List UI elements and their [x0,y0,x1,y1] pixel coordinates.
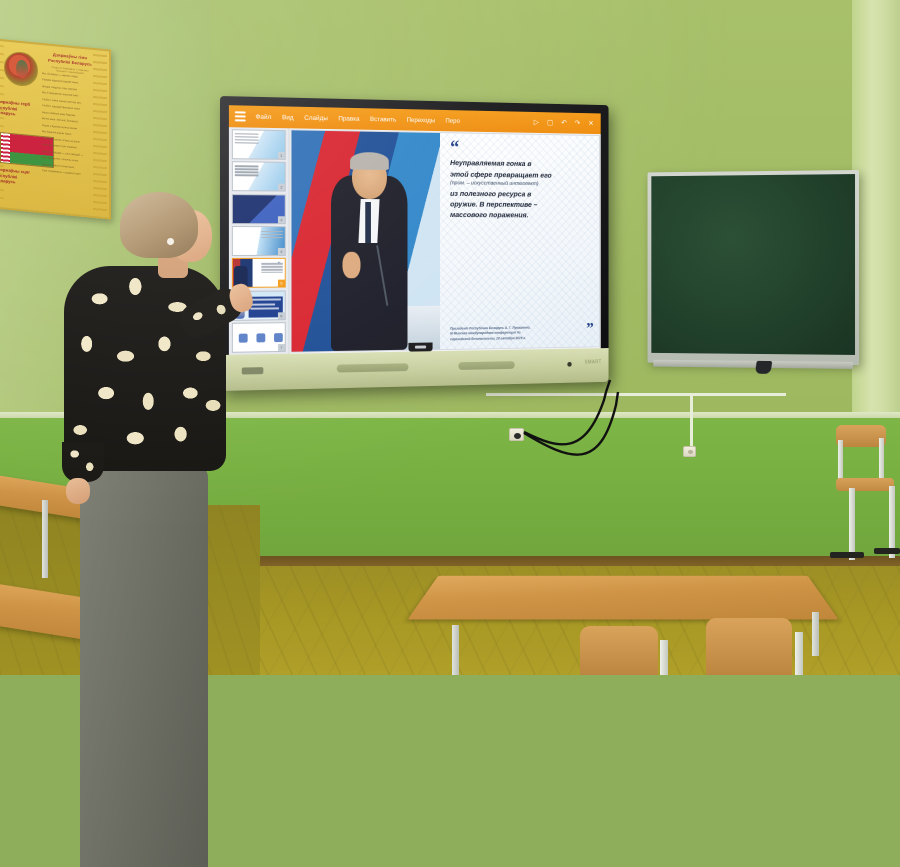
interactive-display[interactable]: ФайлВидСлайдыПравкаВставитьПереходыПеро … [220,96,609,391]
slide-thumbnail[interactable]: 3 [232,194,286,224]
menu-item-файл[interactable]: Файл [255,113,271,120]
display-brand: SMART [585,359,602,365]
redo-icon[interactable]: ↷ [575,120,581,127]
ir-sensor [242,367,264,374]
app-body: 1234“567 [229,127,601,355]
slide-number: 2 [278,184,285,191]
slide-quote-block: “ Неуправляемая гонка в этой сфере превр… [440,133,599,349]
display-screen[interactable]: ФайлВидСлайдыПравкаВставитьПереходыПеро … [229,105,601,355]
teacher-earring [167,238,174,245]
chair-back [706,618,792,675]
power-outlet-left [509,428,524,441]
attribution-line-3: евразийской безопасности, 28 октября 202… [450,335,569,342]
chalkboard-surface [651,174,855,355]
speaker-hair [350,152,389,170]
flag-ornament [1,133,10,163]
chalkboard [648,170,859,365]
menu-item-вставить[interactable]: Вставить [370,116,396,123]
slide-number: 3 [278,216,285,223]
cable-conduit-vertical [690,395,693,447]
slide-thumbnail[interactable]: 7 [232,322,286,352]
teacher-hand-lower [66,478,90,504]
quote-close-icon: ” [586,324,593,334]
quote-attribution: Президент Республики Беларусь А. Г. Лука… [450,325,569,342]
slide-thumbnail-panel[interactable]: 1234“567 [229,127,290,355]
poster-label-emblem: Дзяржаўны гербРэспублікі Беларусь [0,98,39,119]
chalkboard-frame [648,170,859,365]
slide-thumbnail[interactable]: 2 [232,162,286,192]
quote-line-4: оружие. В перспективе – [450,199,590,211]
chair-post [660,640,668,675]
speaker-hand [343,252,361,278]
cable-conduit-horizontal [486,393,786,396]
stop-icon[interactable]: ▢ [547,119,553,126]
poster-lyrics: Мы, беларусы — мірныя людзі,Сэрцам аддан… [42,72,100,208]
chair-foot-l [830,552,864,558]
slide-number: 1 [278,152,285,159]
slide-number: 7 [278,344,285,351]
belarus-emblem-icon [4,50,38,87]
slide-number: 5 [278,280,285,287]
desk-foreground-leg-left [452,625,459,675]
quote-text: Неуправляемая гонка в этой сфере превращ… [450,158,590,221]
close-icon[interactable]: ✕ [588,120,594,127]
quote-line-5: массового поражения. [450,210,590,222]
undo-icon[interactable]: ↶ [561,119,567,126]
slide-thumbnail[interactable]: 4 [232,226,286,256]
speaker-tie [365,202,371,244]
desk-foreground [407,576,838,620]
desk-foreground-leg-right [812,612,819,656]
power-outlet-right [683,446,696,457]
menu-item-перо[interactable]: Перо [445,117,459,124]
quote-open-icon: “ [450,142,590,156]
slide-photo [292,130,440,351]
toolbar-right-group[interactable]: ▷▢↶↷✕ [534,119,596,127]
chair-back [580,626,658,675]
chair-foot-r [874,548,900,554]
teacher-blouse [64,266,226,471]
current-slide: “ Неуправляемая гонка в этой сфере превр… [292,130,599,351]
chair-front-leg-l [849,488,855,560]
slide-thumbnail[interactable]: 1 [232,129,286,160]
hamburger-icon[interactable] [235,112,246,121]
menu-item-правка[interactable]: Правка [338,115,359,122]
slide-number: 6 [278,312,285,319]
teacher-sleeve-cuff [62,442,104,482]
teacher-hair [120,192,198,258]
menu-item-переходы[interactable]: Переходы [407,116,436,123]
speaker-grille-right [458,361,514,370]
speaker-grille-left [337,363,409,372]
play-icon[interactable]: ▷ [534,119,539,126]
chair-seat [836,478,894,491]
desk-front-left-leg [42,500,48,578]
poster-label-flag: Дзяржаўны сцягРэспублікі Беларусь [0,166,39,187]
chair-post [795,632,803,675]
power-led[interactable] [567,362,571,367]
teacher [58,192,238,675]
slide-number: 4 [278,248,285,255]
menu-item-вид[interactable]: Вид [282,114,294,121]
teacher-skirt [80,460,208,867]
slide-canvas[interactable]: “ Неуправляемая гонка в этой сфере превр… [290,128,601,353]
menu-item-слайды[interactable]: Слайды [304,114,328,121]
classroom-scene: Дзяржаўны гімнРэспублікі Беларусь Словы … [0,0,900,675]
